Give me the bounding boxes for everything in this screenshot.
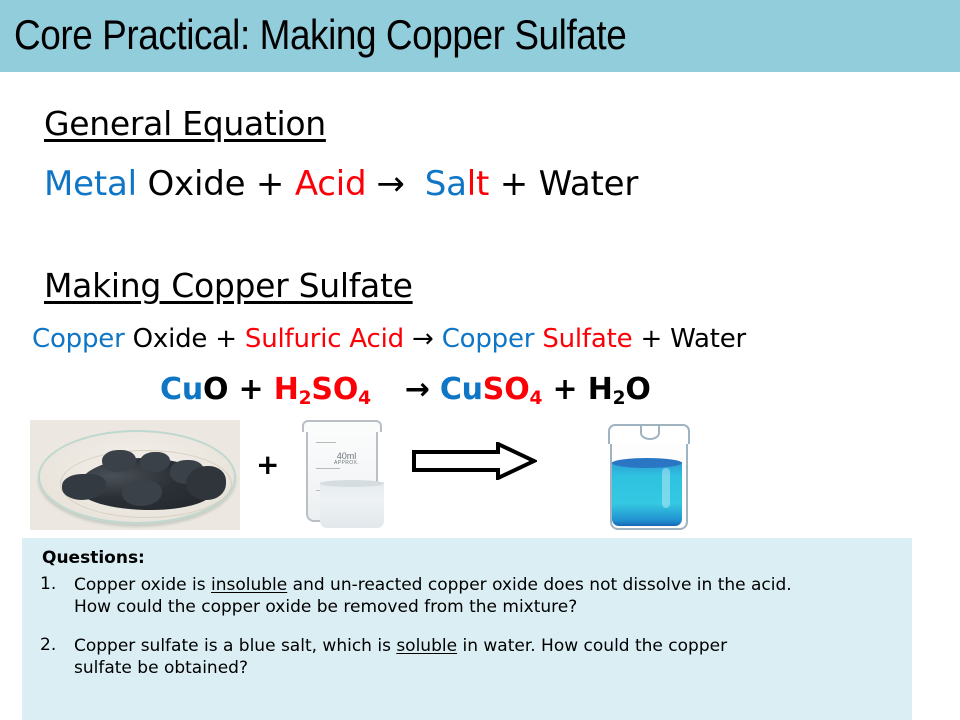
beaker-highlight	[662, 468, 670, 508]
question-2-pre: Copper sulfate is a blue salt, which is	[74, 636, 396, 656]
symbol-cu-product: Cu	[440, 372, 483, 407]
word-water-term: + Water	[632, 324, 746, 354]
symbol-water-h: H	[588, 372, 613, 407]
general-arrow-icon: →	[376, 164, 404, 204]
powder-lump	[140, 452, 170, 472]
questions-heading: Questions:	[42, 548, 898, 568]
copper-sulfate-beaker-photo	[600, 408, 696, 536]
acid-beaker-body: 40ml APPROX.	[306, 424, 378, 522]
general-equation-heading: General Equation	[44, 104, 326, 143]
symbol-plus-1: +	[228, 372, 273, 407]
copper-sulfate-solution	[612, 462, 682, 526]
word-copper-product-term: Copper	[442, 324, 535, 354]
question-1-pre: Copper oxide is	[74, 575, 211, 595]
general-metal-term: Metal	[44, 164, 137, 204]
questions-spacer	[36, 623, 898, 635]
acid-liquid	[320, 482, 384, 528]
word-oxide-term: Oxide +	[125, 324, 245, 354]
general-water-term: + Water	[489, 164, 638, 204]
acid-beaker-lip	[302, 420, 382, 432]
word-copper-term: Copper	[32, 324, 125, 354]
beaker-approx-text: APPROX.	[334, 461, 359, 466]
petri-dish-icon	[38, 430, 236, 524]
making-copper-sulfate-heading: Making Copper Sulfate	[44, 266, 413, 305]
acid-liquid-surface	[320, 480, 384, 487]
symbol-so: SO	[311, 372, 358, 407]
question-1-keyword: insoluble	[211, 575, 287, 595]
copper-sulfate-surface	[612, 458, 682, 468]
general-salt-metal-part: Sa	[425, 164, 467, 204]
reaction-arrow-icon	[412, 442, 537, 480]
symbol-arrow-icon: →	[405, 372, 430, 407]
question-text: Copper oxide is insoluble and un-reacted…	[74, 574, 792, 619]
general-equation-line: Metal Oxide + Acid→Salt + Water	[44, 164, 638, 204]
word-arrow-icon: →	[404, 324, 442, 354]
symbol-cu: Cu	[160, 372, 203, 407]
word-equation-line: Copper Oxide + Sulfuric Acid → Copper Su…	[32, 324, 746, 354]
question-number: 1.	[40, 574, 74, 619]
symbol-o: O	[203, 372, 228, 407]
plus-sign: +	[256, 448, 279, 481]
title-banner: Core Practical: Making Copper Sulfate	[0, 0, 960, 72]
symbol-so4-product: SO	[483, 372, 530, 407]
symbol-water-o: O	[625, 372, 650, 407]
question-1-post: and un-reacted copper oxide does not dis…	[287, 575, 791, 595]
question-text: Copper sulfate is a blue salt, which is …	[74, 635, 727, 680]
powder-lump	[170, 460, 204, 484]
beaker-graduation-label: 40ml APPROX.	[334, 452, 359, 466]
symbol-equation-line: CuO + H2SO4→CuSO4 + H2O	[160, 372, 651, 409]
question-2-keyword: soluble	[396, 636, 457, 656]
general-salt-acid-part: lt	[467, 164, 489, 204]
copper-oxide-powder	[78, 458, 214, 510]
copper-oxide-photo	[30, 420, 240, 530]
acid-beaker-photo: 40ml APPROX.	[296, 414, 388, 532]
question-number: 2.	[40, 635, 74, 680]
beaker-spout	[640, 426, 660, 440]
symbol-plus-2: +	[542, 372, 587, 407]
general-acid-term: Acid	[295, 164, 367, 204]
graduation-mark	[316, 442, 336, 443]
powder-lump	[122, 480, 162, 506]
general-oxide-term: Oxide +	[137, 164, 295, 204]
symbol-h: H	[274, 372, 299, 407]
word-sulfate-product-term: Sulfate	[534, 324, 632, 354]
apparatus-row: + 40ml APPROX.	[0, 406, 960, 536]
question-item: 1. Copper oxide is insoluble and un-reac…	[40, 574, 898, 619]
graduation-mark	[316, 468, 340, 469]
question-1-line2: How could the copper oxide be removed fr…	[74, 597, 577, 617]
question-item: 2. Copper sulfate is a blue salt, which …	[40, 635, 898, 680]
question-2-post: in water. How could the copper	[457, 636, 727, 656]
question-2-line2: sulfate be obtained?	[74, 658, 248, 678]
word-sulfuric-acid-term: Sulfuric Acid	[245, 324, 404, 354]
page-title: Core Practical: Making Copper Sulfate	[14, 11, 626, 59]
questions-box: Questions: 1. Copper oxide is insoluble …	[22, 538, 912, 720]
powder-lump	[102, 450, 136, 472]
